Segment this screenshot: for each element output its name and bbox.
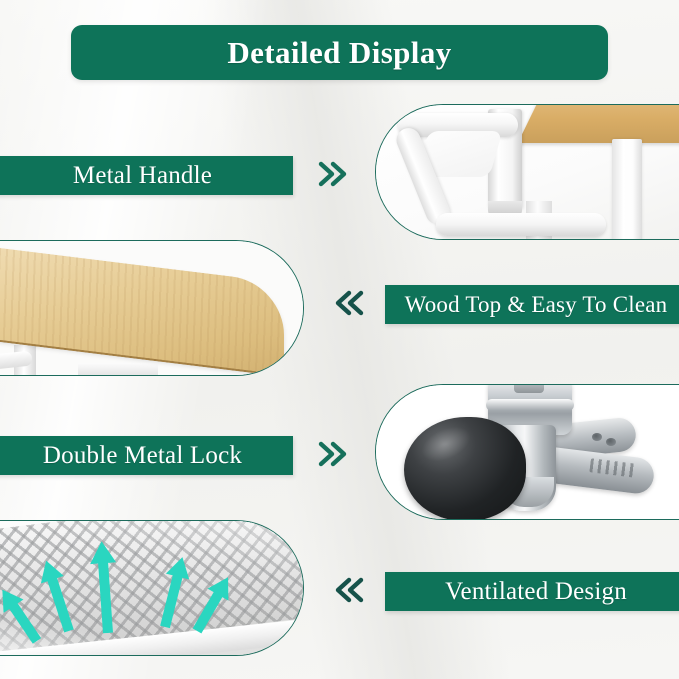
feature-label-text: Ventilated Design [445,578,627,606]
feature-label-wood-top: Wood Top & Easy To Clean [385,285,679,324]
feature-image-double-metal-lock [375,384,679,520]
page-title: Detailed Display [227,37,451,68]
chevron-double-right-icon [315,436,351,472]
feature-label-text: Metal Handle [73,162,212,190]
feature-label-text: Double Metal Lock [43,442,242,470]
feature-row-ventilated-design: Ventilated Design [0,520,679,656]
feature-image-ventilated-design [0,520,304,656]
feature-image-wood-top [0,240,304,376]
chevron-double-left-icon [331,285,367,321]
feature-label-text: Wood Top & Easy To Clean [405,292,668,318]
infographic-page: Detailed Display Metal Handle [0,0,679,679]
feature-label-double-metal-lock: Double Metal Lock [0,436,293,475]
feature-label-ventilated-design: Ventilated Design [385,572,679,611]
feature-row-wood-top: Wood Top & Easy To Clean [0,240,679,376]
feature-row-metal-handle: Metal Handle [0,104,679,240]
chevron-double-right-icon [315,156,351,192]
feature-row-double-metal-lock: Double Metal Lock [0,384,679,520]
chevron-double-left-icon [331,572,367,608]
feature-label-metal-handle: Metal Handle [0,156,293,195]
feature-image-metal-handle [375,104,679,240]
page-title-banner: Detailed Display [71,25,608,80]
